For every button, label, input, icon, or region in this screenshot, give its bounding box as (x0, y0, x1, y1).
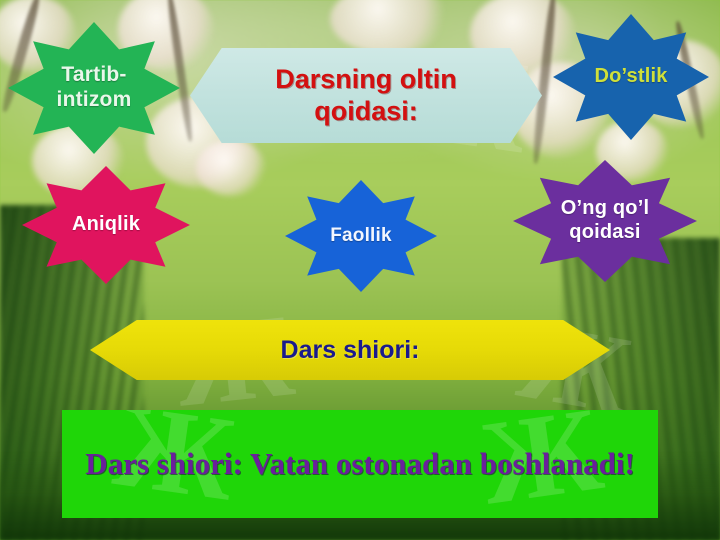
blossom-decoration (196, 140, 266, 196)
banner-golden-rule[interactable]: Darsning oltinqoidasi: (190, 48, 542, 143)
motto-text: Dars shiori: Vatan ostonadan boshlanadi! (71, 445, 649, 483)
star-faollik-label: Faollik (320, 225, 402, 247)
star-tartib-intizom-label: Tartib-intizom (47, 63, 142, 113)
star-dostlik-label: Do’stlik (584, 65, 677, 89)
star-ong-qol-qoidasi[interactable]: O’ng qo’lqoidasi (513, 160, 697, 282)
star-dostlik[interactable]: Do’stlik (553, 14, 709, 140)
star-faollik[interactable]: Faollik (285, 180, 437, 292)
motto-text-box[interactable]: Ж Ж Dars shiori: Vatan ostonadan boshlan… (62, 410, 658, 518)
star-tartib-intizom[interactable]: Tartib-intizom (8, 22, 180, 154)
star-aniqlik[interactable]: Aniqlik (22, 166, 190, 284)
star-aniqlik-label: Aniqlik (62, 213, 150, 237)
slide-canvas: Ж Ж Ж Tartib-intizom Do’stlik Aniqlik Fa… (0, 0, 720, 540)
star-ong-qol-qoidasi-label: O’ng qo’lqoidasi (551, 197, 659, 244)
banner-golden-rule-label: Darsning oltinqoidasi: (275, 64, 457, 128)
banner-motto-label: Dars shiori: (281, 336, 420, 365)
banner-motto[interactable]: Dars shiori: (90, 320, 610, 380)
